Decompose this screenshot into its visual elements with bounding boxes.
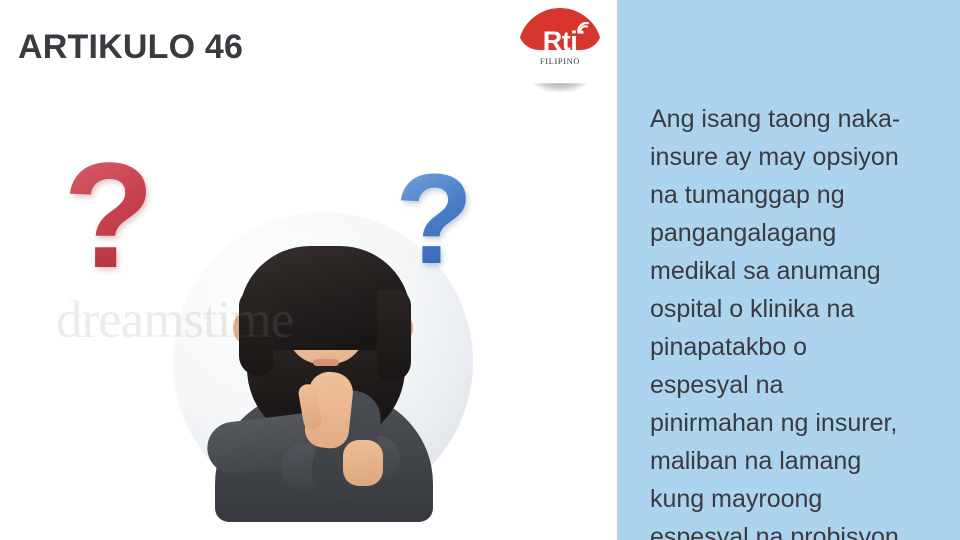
wifi-signal-icon [576,21,592,35]
rti-filipino-logo: Rti FILIPINO [510,6,610,106]
question-mark-blue-icon: ? [395,162,473,277]
character-mouth [313,359,339,366]
logo-subtitle: FILIPINO [510,56,610,66]
text-panel: Ang isang taong naka- insure ay may opsi… [617,0,960,540]
logo-wordmark: Rti [510,28,610,55]
body-paragraph: Ang isang taong naka- insure ay may opsi… [650,100,950,540]
question-mark-red-icon: ? [63,148,155,283]
character-hair-side-left [239,290,273,376]
page-title: ARTIKULO 46 [18,28,243,67]
thinking-man-illustration: ? ? [55,140,555,520]
logo-shadow-ellipse [532,76,588,92]
character-hair-side-right [377,290,411,382]
slide-canvas: ARTIKULO 46 Rti FILIPINO [0,0,960,540]
character-hand-lower [343,440,383,486]
